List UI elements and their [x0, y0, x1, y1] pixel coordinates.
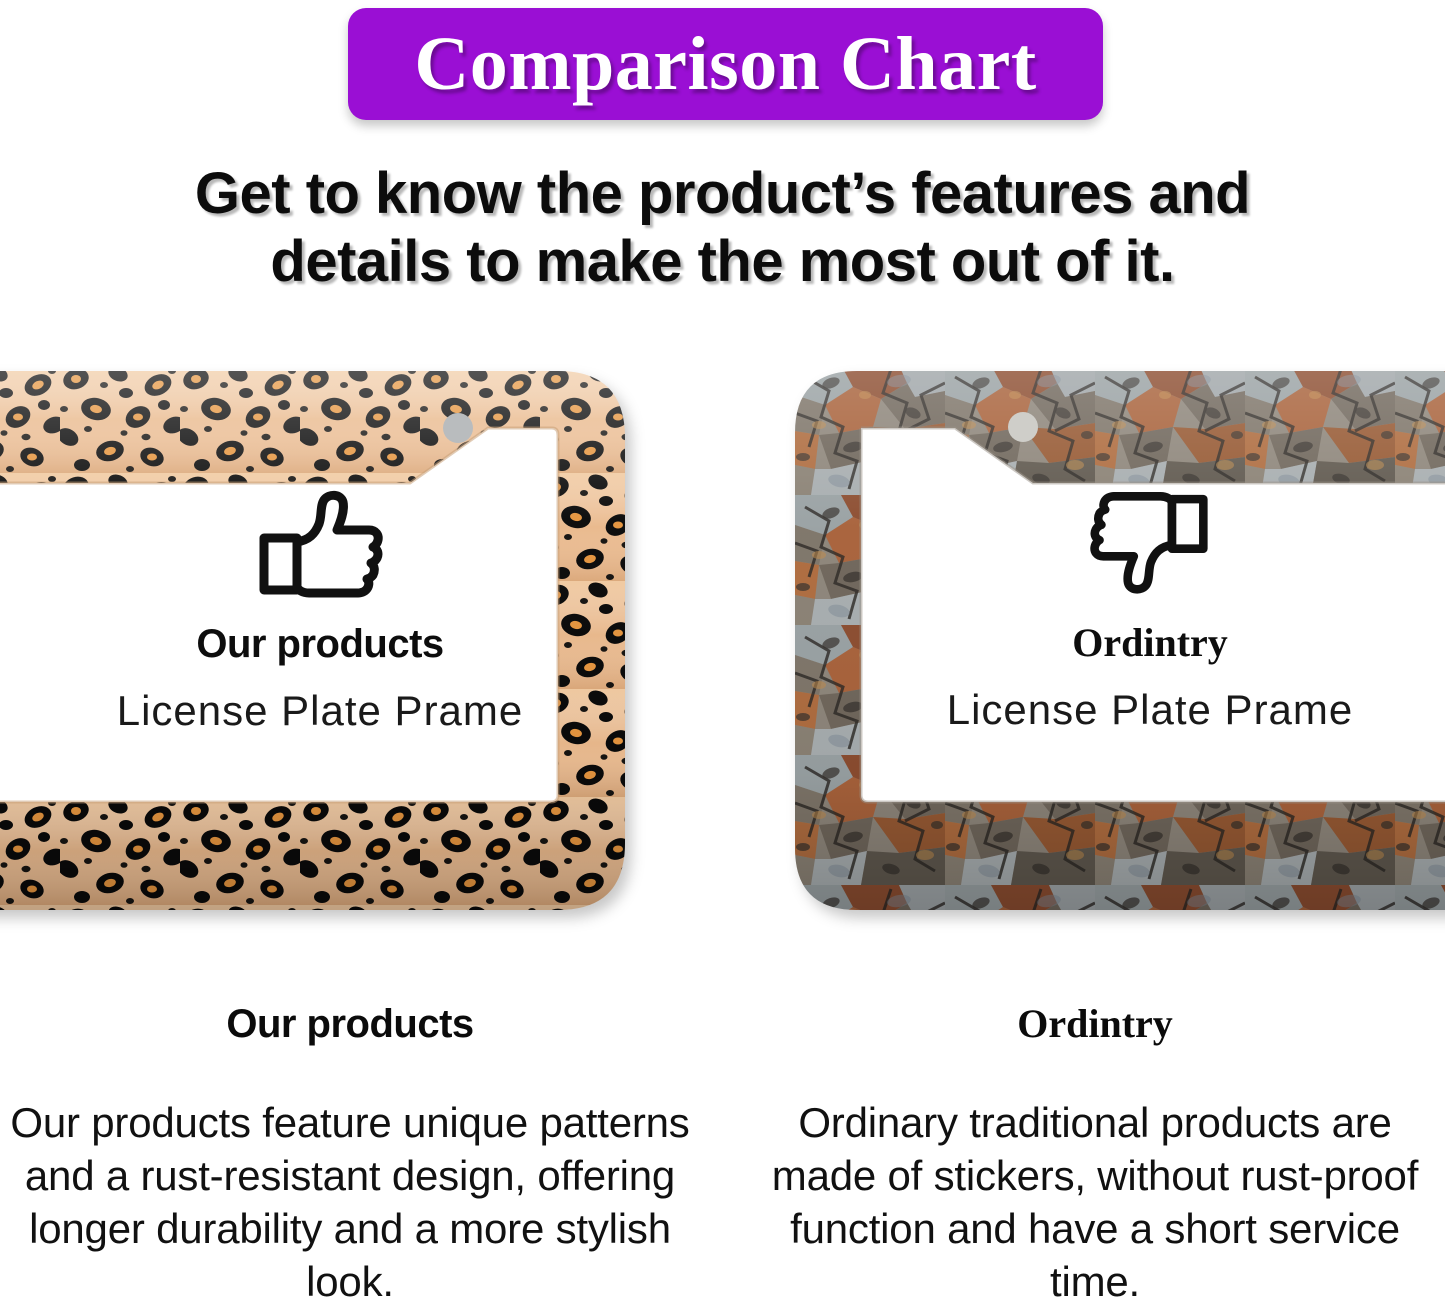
subtitle-line-2: details to make the most out of it. — [0, 228, 1445, 296]
subtitle: Get to know the product’s features and d… — [0, 160, 1445, 296]
description-column-ordinary: Ordintry Ordinary traditional products a… — [745, 1000, 1445, 1308]
plate-title-ordinary: Ordintry — [1072, 621, 1228, 665]
thumbs-down-icon — [1090, 487, 1210, 597]
column-body-ours: Our products feature unique patterns and… — [0, 1096, 700, 1308]
mounting-hole-ordinary — [1008, 412, 1038, 442]
column-heading-ordinary: Ordintry — [745, 1000, 1445, 1048]
comparison-chart-banner: Comparison Chart — [348, 8, 1103, 120]
plate-subtitle-ours: License Plate Prame — [117, 688, 524, 734]
column-body-ordinary: Ordinary traditional products are made o… — [745, 1096, 1445, 1308]
thumbs-up-icon — [257, 490, 383, 598]
column-heading-ours: Our products — [0, 1000, 700, 1048]
plate-label-ours: Our products License Plate Prame — [40, 490, 600, 734]
page-title: Comparison Chart — [414, 21, 1036, 108]
subtitle-line-1: Get to know the product’s features and — [195, 161, 1250, 226]
plate-subtitle-ordinary: License Plate Prame — [947, 687, 1354, 733]
mounting-hole-ours — [443, 413, 473, 443]
plate-title-ours: Our products — [196, 622, 443, 666]
description-column-ours: Our products Our products feature unique… — [0, 1000, 700, 1308]
plate-label-ordinary: Ordintry License Plate Prame — [870, 487, 1430, 733]
